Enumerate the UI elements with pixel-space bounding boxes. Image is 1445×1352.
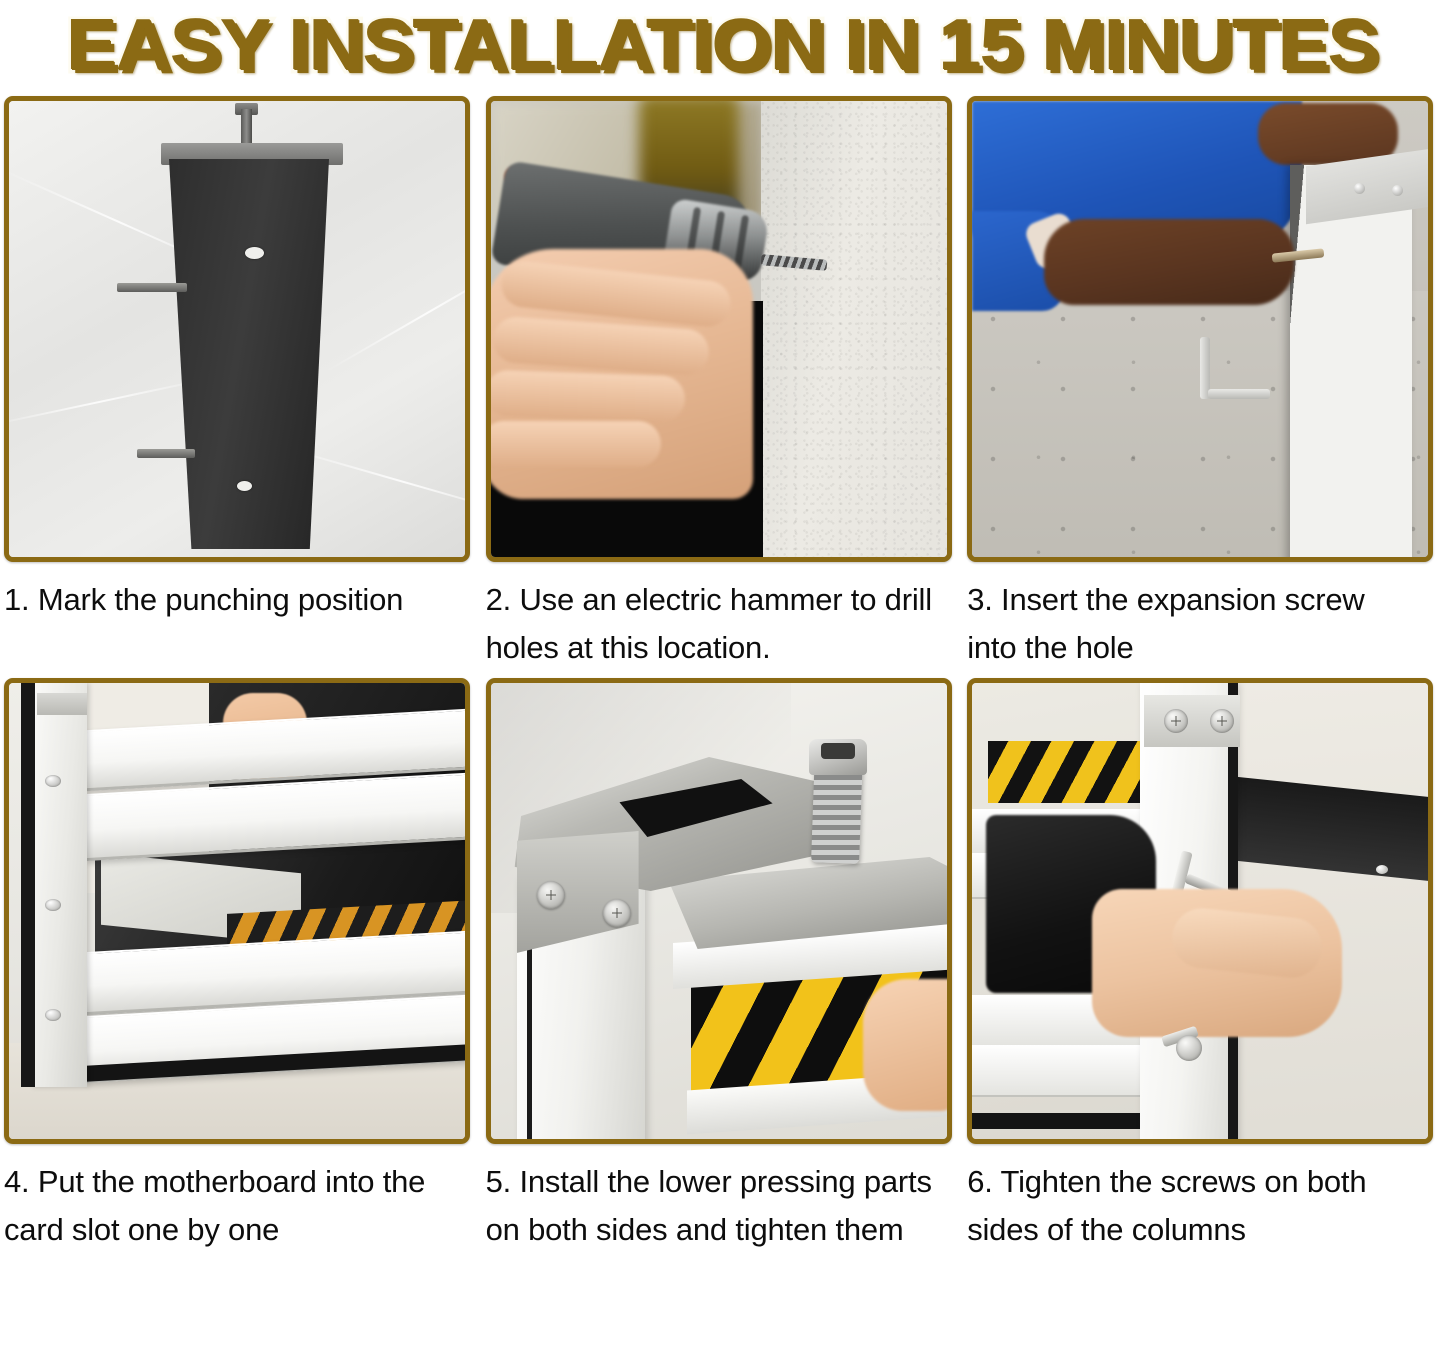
step-card-5: 5. Install the lower pressing parts on b… (482, 678, 964, 1254)
page-title: EASY INSTALLATION IN 15 MINUTES (67, 10, 1378, 82)
marking-hole (237, 481, 252, 491)
hazard-stripe (988, 741, 1144, 803)
step-caption-1: 1. Mark the punching position (4, 576, 454, 624)
column-screw (1164, 709, 1188, 733)
step-card-2: 2. Use an electric hammer to drill holes… (482, 96, 964, 672)
step-photo-1 (9, 101, 465, 557)
wall-surface (761, 101, 947, 557)
step-photo-3 (972, 101, 1428, 557)
step-caption-3: 3. Insert the expansion screw into the h… (967, 576, 1417, 672)
step-photo-5 (491, 683, 947, 1139)
step-caption-5: 5. Install the lower pressing parts on b… (486, 1158, 936, 1254)
step-caption-6: 6. Tighten the screws on both sides of t… (967, 1158, 1417, 1254)
step-card-4: 4. Put the motherboard into the card slo… (0, 678, 482, 1254)
fabric-fold (325, 251, 465, 373)
barrier-board (972, 1045, 1144, 1097)
step-card-1: 1. Mark the punching position (0, 96, 482, 672)
column-rail (31, 683, 87, 1087)
step-photo-frame-4 (4, 678, 470, 1144)
step-photo-2 (491, 101, 947, 557)
column-body (169, 159, 329, 549)
hex-socket (821, 743, 855, 759)
step-caption-4: 4. Put the motherboard into the card slo… (4, 1158, 454, 1254)
steps-grid: 1. Mark the punching position (0, 96, 1445, 1254)
marking-hole (245, 247, 264, 259)
step-caption-2: 2. Use an electric hammer to drill holes… (486, 576, 936, 672)
step-photo-frame-2 (486, 96, 952, 562)
title-banner: EASY INSTALLATION IN 15 MINUTES (0, 0, 1445, 92)
bracket-screw (603, 899, 631, 927)
top-stud (241, 109, 252, 147)
base-seal (972, 1113, 1144, 1129)
step-photo-frame-1 (4, 96, 470, 562)
column-top-plate (37, 693, 87, 715)
column-screw (45, 775, 61, 787)
step-photo-6 (972, 683, 1428, 1139)
finger (491, 421, 661, 467)
step-photo-frame-6 (967, 678, 1433, 1144)
finger (863, 979, 947, 1111)
step-photo-4 (9, 683, 465, 1139)
column-screw (45, 1009, 61, 1021)
step-card-6: 6. Tighten the screws on both sides of t… (963, 678, 1445, 1254)
column-screw (1210, 709, 1234, 733)
column-screw (45, 899, 61, 911)
side-stud (117, 283, 187, 292)
steps-row-top: 1. Mark the punching position (0, 96, 1445, 672)
worker-arm (1044, 219, 1294, 305)
step-photo-frame-3 (967, 96, 1433, 562)
step-card-3: 3. Insert the expansion screw into the h… (963, 96, 1445, 672)
bracket-screw (537, 881, 565, 909)
column-rail-groove (21, 683, 35, 1087)
column-screw (1176, 1035, 1202, 1061)
finger (491, 370, 686, 423)
allen-key-arm (1208, 389, 1270, 399)
step-photo-frame-5 (486, 678, 952, 1144)
steps-row-bottom: 4. Put the motherboard into the card slo… (0, 678, 1445, 1254)
side-stud (137, 449, 195, 458)
